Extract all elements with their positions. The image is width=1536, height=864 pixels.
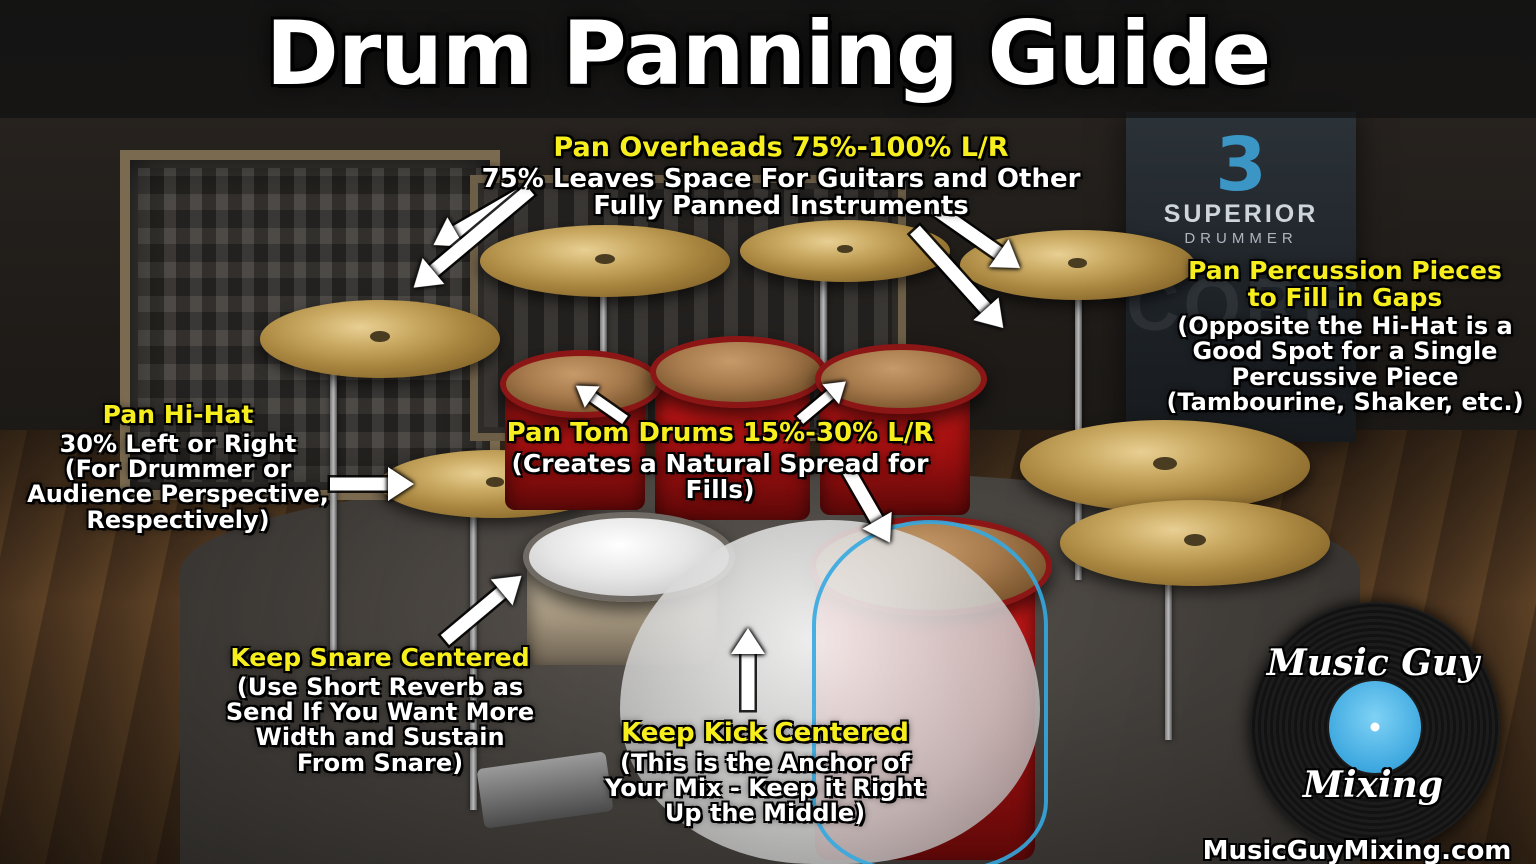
annotation-percussion: Pan Percussion Pieces to Fill in Gaps (O… — [1150, 258, 1536, 416]
brand-logo[interactable]: Music Guy Mixing — [1228, 602, 1518, 852]
annotation-kick-line1: (This is the Anchor of — [600, 751, 930, 776]
annotation-toms-heading: Pan Tom Drums 15%-30% L/R — [480, 420, 960, 448]
crash-cymbal-center-left — [480, 225, 730, 297]
annotation-kick: Keep Kick Centered (This is the Anchor o… — [600, 720, 930, 827]
banner-product-name: SUPERIOR — [1164, 200, 1319, 229]
annotation-overheads: Pan Overheads 75%-100% L/R 75% Leaves Sp… — [466, 134, 1096, 221]
annotation-snare-line4: From Snare) — [215, 751, 545, 776]
infographic-canvas: CORE 3 SUPERIOR DRUMMER Drum Panning Gui… — [0, 0, 1536, 864]
annotation-hihat-line2: (For Drummer or — [18, 457, 338, 482]
annotation-snare: Keep Snare Centered (Use Short Reverb as… — [215, 645, 545, 776]
logo-line-2: Mixing — [1228, 764, 1518, 806]
annotation-percussion-line1: (Opposite the Hi-Hat is a — [1150, 314, 1536, 339]
banner-number: 3 — [1215, 122, 1267, 208]
rack-tom-center — [650, 336, 827, 408]
banner-product-subtitle: DRUMMER — [1184, 230, 1297, 247]
annotation-overheads-line1: 75% Leaves Space For Guitars and Other — [466, 166, 1096, 194]
crash-cymbal-left — [260, 300, 500, 378]
vinyl-record-icon — [1250, 602, 1500, 852]
annotation-kick-line2: Your Mix - Keep it Right — [600, 776, 930, 801]
annotation-toms: Pan Tom Drums 15%-30% L/R (Creates a Nat… — [480, 420, 960, 504]
annotation-percussion-line4: (Tambourine, Shaker, etc.) — [1150, 390, 1536, 415]
annotation-percussion-line2: Good Spot for a Single — [1150, 339, 1536, 364]
annotation-percussion-heading-line1: Pan Percussion Pieces — [1150, 258, 1536, 285]
annotation-snare-line1: (Use Short Reverb as — [215, 675, 545, 700]
annotation-overheads-heading: Pan Overheads 75%-100% L/R — [466, 134, 1096, 163]
annotation-kick-heading: Keep Kick Centered — [600, 720, 930, 748]
annotation-snare-heading: Keep Snare Centered — [215, 645, 545, 672]
logo-line-1: Music Guy — [1228, 642, 1518, 684]
annotation-hihat-line3: Audience Perspective, — [18, 482, 338, 507]
annotation-hihat-line1: 30% Left or Right — [18, 432, 338, 457]
vinyl-hole — [1371, 723, 1380, 732]
website-url[interactable]: MusicGuyMixing.com — [1192, 836, 1522, 864]
annotation-toms-line1: (Creates a Natural Spread for Fills) — [480, 451, 960, 504]
annotation-hihat-heading: Pan Hi-Hat — [18, 402, 338, 429]
annotation-kick-line3: Up the Middle) — [600, 801, 930, 826]
annotation-snare-line3: Width and Sustain — [215, 725, 545, 750]
annotation-percussion-heading-line2: to Fill in Gaps — [1150, 285, 1536, 312]
china-cymbal-right — [1020, 420, 1310, 512]
page-title: Drum Panning Guide — [0, 2, 1536, 105]
annotation-snare-line2: Send If You Want More — [215, 700, 545, 725]
splash-cymbal-far-right — [1060, 500, 1330, 586]
annotation-hihat-line4: Respectively) — [18, 508, 338, 533]
annotation-overheads-line2: Fully Panned Instruments — [466, 193, 1096, 221]
annotation-hihat: Pan Hi-Hat 30% Left or Right (For Drumme… — [18, 402, 338, 533]
annotation-percussion-line3: Percussive Piece — [1150, 365, 1536, 390]
